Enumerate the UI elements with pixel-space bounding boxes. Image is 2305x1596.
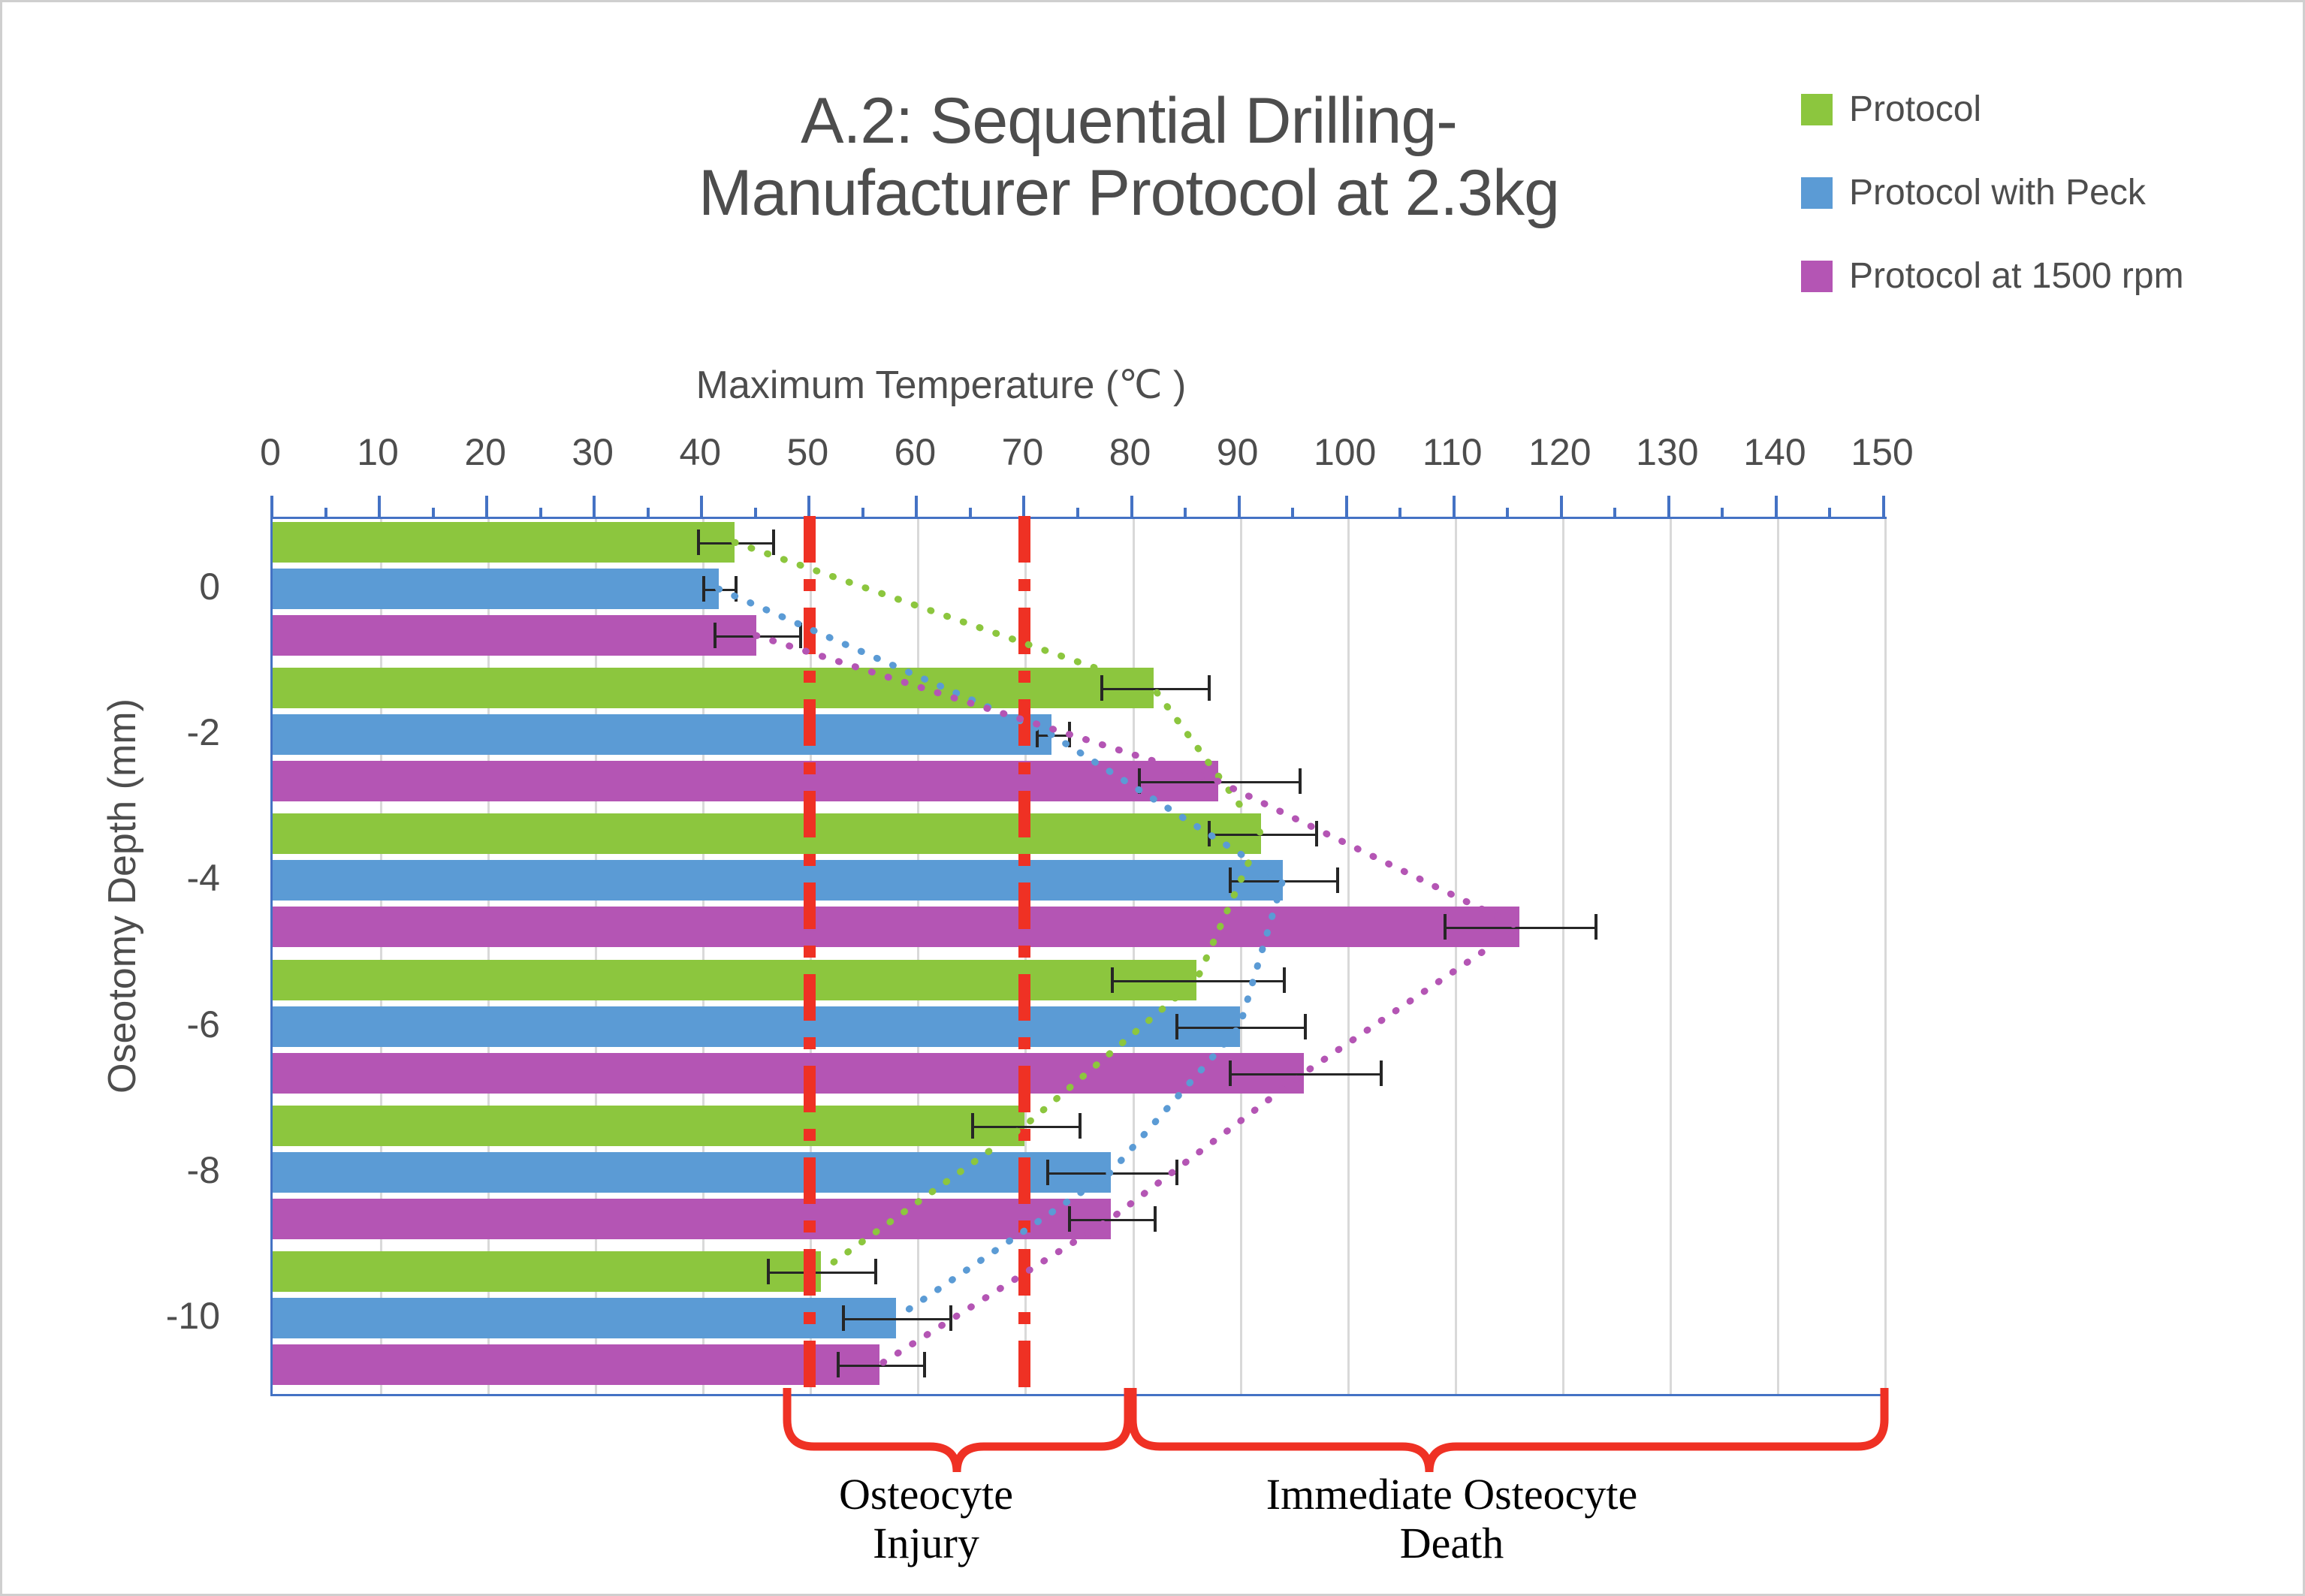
error-bar — [714, 635, 799, 638]
x-tick-label: 30 — [572, 430, 614, 474]
x-tick-label: 120 — [1528, 430, 1591, 474]
threshold-line — [804, 516, 816, 1397]
error-bar-cap — [1315, 821, 1318, 846]
gridline — [1240, 519, 1242, 1394]
error-bar — [837, 1365, 922, 1367]
error-bar-cap — [714, 623, 717, 648]
error-bar-cap — [837, 1352, 840, 1377]
x-tick-label: 70 — [1002, 430, 1044, 474]
error-bar-cap — [1208, 821, 1211, 846]
error-bar-cap — [1299, 768, 1302, 794]
error-bar-cap — [1175, 1160, 1178, 1185]
error-bar — [1046, 1172, 1175, 1175]
error-bar — [1138, 781, 1299, 783]
x-tickmark-major — [593, 496, 596, 518]
error-bar — [1068, 1219, 1154, 1221]
error-bar-cap — [1175, 1014, 1178, 1039]
x-tickmark-major — [270, 496, 273, 518]
bar — [273, 761, 1218, 801]
x-tickmark-major — [1345, 496, 1348, 518]
error-bar — [842, 1318, 949, 1320]
x-tick-label: 0 — [260, 430, 281, 474]
x-tickmark-major — [807, 496, 810, 518]
bar — [273, 1199, 1111, 1239]
x-tickmark-major — [1453, 496, 1456, 518]
error-bar-cap — [702, 576, 705, 602]
error-bar — [1229, 1073, 1379, 1076]
bar — [273, 1006, 1240, 1047]
error-bar-cap — [1336, 867, 1339, 893]
x-tickmark-major — [378, 496, 381, 518]
legend-label-protocol: Protocol — [1849, 89, 1981, 130]
legend-swatch-green — [1801, 94, 1833, 125]
x-tickmark-major — [1022, 496, 1025, 518]
bar — [273, 522, 735, 563]
bar — [273, 960, 1196, 1000]
x-tickmark-major — [1775, 496, 1778, 518]
plot-area — [270, 517, 1887, 1396]
x-tickmark-major — [915, 496, 918, 518]
error-bar-cap — [1304, 1014, 1307, 1039]
x-tickmark-major — [1560, 496, 1563, 518]
chart-legend: Protocol Protocol with Peck Protocol at … — [1801, 89, 2282, 339]
error-bar — [1100, 688, 1208, 690]
error-bar-cap — [1079, 1113, 1082, 1139]
x-tick-label: 60 — [895, 430, 937, 474]
error-bar-cap — [923, 1352, 926, 1377]
error-bar-cap — [735, 576, 738, 602]
error-bar-cap — [1036, 722, 1039, 747]
error-bar-cap — [1208, 675, 1211, 701]
bar — [273, 569, 719, 609]
annotation-osteocyte-injury-line2: Injury — [776, 1519, 1076, 1568]
error-bar-cap — [1138, 768, 1141, 794]
bar — [273, 1152, 1111, 1193]
gridline — [1562, 519, 1564, 1394]
bar — [273, 813, 1261, 854]
x-tick-label: 80 — [1109, 430, 1151, 474]
error-bar — [1111, 980, 1283, 982]
error-bar-cap — [1229, 1060, 1232, 1086]
error-bar — [1036, 735, 1068, 737]
x-tick-label: 90 — [1217, 430, 1259, 474]
error-bar-cap — [1068, 1206, 1071, 1232]
error-bar-cap — [971, 1113, 974, 1139]
error-bar — [702, 589, 735, 591]
annotation-immediate-death-line1: Immediate Osteocyte — [1174, 1471, 1730, 1519]
x-axis-title: Maximum Temperature (℃ ) — [453, 363, 1429, 408]
error-bar-cap — [874, 1259, 877, 1284]
gridline — [1455, 519, 1457, 1394]
y-tick-label: -8 — [25, 1148, 220, 1192]
bar — [273, 1251, 821, 1292]
error-bar-cap — [697, 529, 700, 555]
error-bar — [1175, 1027, 1305, 1029]
error-bar — [1208, 834, 1315, 836]
y-tick-label: -10 — [25, 1294, 220, 1338]
bar — [273, 907, 1519, 947]
error-bar — [1229, 880, 1336, 882]
bar — [273, 1344, 879, 1385]
x-axis-tickmarks — [270, 494, 1882, 518]
error-bar-cap — [1444, 914, 1447, 940]
error-bar-cap — [1283, 967, 1286, 993]
x-tickmark-major — [485, 496, 488, 518]
x-tickmark-major — [1667, 496, 1670, 518]
error-bar — [1444, 927, 1594, 929]
y-tick-label: 0 — [25, 565, 220, 608]
bar — [273, 1298, 896, 1338]
x-tick-label: 140 — [1743, 430, 1806, 474]
annotation-osteocyte-injury-line1: Osteocyte — [776, 1471, 1076, 1519]
gridline — [917, 519, 919, 1394]
x-tickmark-major — [700, 496, 703, 518]
x-tick-label: 40 — [679, 430, 721, 474]
x-tick-label: 110 — [1423, 430, 1483, 474]
x-tick-label: 150 — [1851, 430, 1913, 474]
x-tickmark-major — [1882, 496, 1885, 518]
error-bar-cap — [949, 1305, 952, 1331]
error-bar-cap — [1100, 675, 1103, 701]
error-bar-cap — [1229, 867, 1232, 893]
annotation-osteocyte-injury: Osteocyte Injury — [776, 1471, 1076, 1568]
error-bar-cap — [1111, 967, 1114, 993]
error-bar-cap — [1046, 1160, 1049, 1185]
error-bar-cap — [1594, 914, 1598, 940]
error-bar-cap — [772, 529, 775, 555]
error-bar-cap — [1380, 1060, 1383, 1086]
legend-item-protocol-1500rpm[interactable]: Protocol at 1500 rpm — [1801, 255, 2282, 297]
bar — [273, 1106, 1024, 1146]
x-tick-label: 100 — [1314, 430, 1376, 474]
error-bar-cap — [799, 623, 802, 648]
gridline — [1133, 519, 1135, 1394]
legend-item-protocol-with-peck[interactable]: Protocol with Peck — [1801, 172, 2282, 213]
error-bar-cap — [1154, 1206, 1157, 1232]
bar — [273, 714, 1051, 755]
bar — [273, 860, 1283, 901]
error-bar — [767, 1272, 874, 1274]
legend-swatch-blue — [1801, 177, 1833, 209]
error-bar-cap — [1068, 722, 1071, 747]
x-tick-label: 10 — [357, 430, 399, 474]
chart-title-line-2: Manufacturer Protocol at 2.3kg — [528, 157, 1730, 229]
annotation-immediate-death: Immediate Osteocyte Death — [1174, 1471, 1730, 1568]
y-tick-label: -6 — [25, 1003, 220, 1046]
y-tick-label: -4 — [25, 856, 220, 900]
legend-swatch-purple — [1801, 261, 1833, 292]
threshold-line — [1018, 516, 1030, 1397]
gridline — [1777, 519, 1779, 1394]
gridline — [1670, 519, 1672, 1394]
chart-title: A.2: Sequential Drilling- Manufacturer P… — [528, 85, 1730, 230]
gridline — [1884, 519, 1887, 1394]
legend-label-protocol-1500rpm: Protocol at 1500 rpm — [1849, 255, 2184, 297]
x-tick-label: 50 — [787, 430, 829, 474]
error-bar-cap — [767, 1259, 770, 1284]
legend-label-protocol-with-peck: Protocol with Peck — [1849, 172, 2146, 213]
x-tickmark-major — [1130, 496, 1133, 518]
gridline — [1347, 519, 1350, 1394]
annotation-immediate-death-line2: Death — [1174, 1519, 1730, 1568]
bar — [273, 1053, 1304, 1094]
y-tick-label: -2 — [25, 711, 220, 754]
bar — [273, 615, 756, 656]
x-tick-label: 130 — [1636, 430, 1698, 474]
error-bar-cap — [842, 1305, 845, 1331]
chart-figure: A.2: Sequential Drilling- Manufacturer P… — [0, 0, 2305, 1596]
x-tickmark-major — [1238, 496, 1241, 518]
x-tick-label: 20 — [464, 430, 506, 474]
chart-title-line-1: A.2: Sequential Drilling- — [528, 85, 1730, 157]
error-bar — [697, 542, 772, 545]
legend-item-protocol[interactable]: Protocol — [1801, 89, 2282, 130]
